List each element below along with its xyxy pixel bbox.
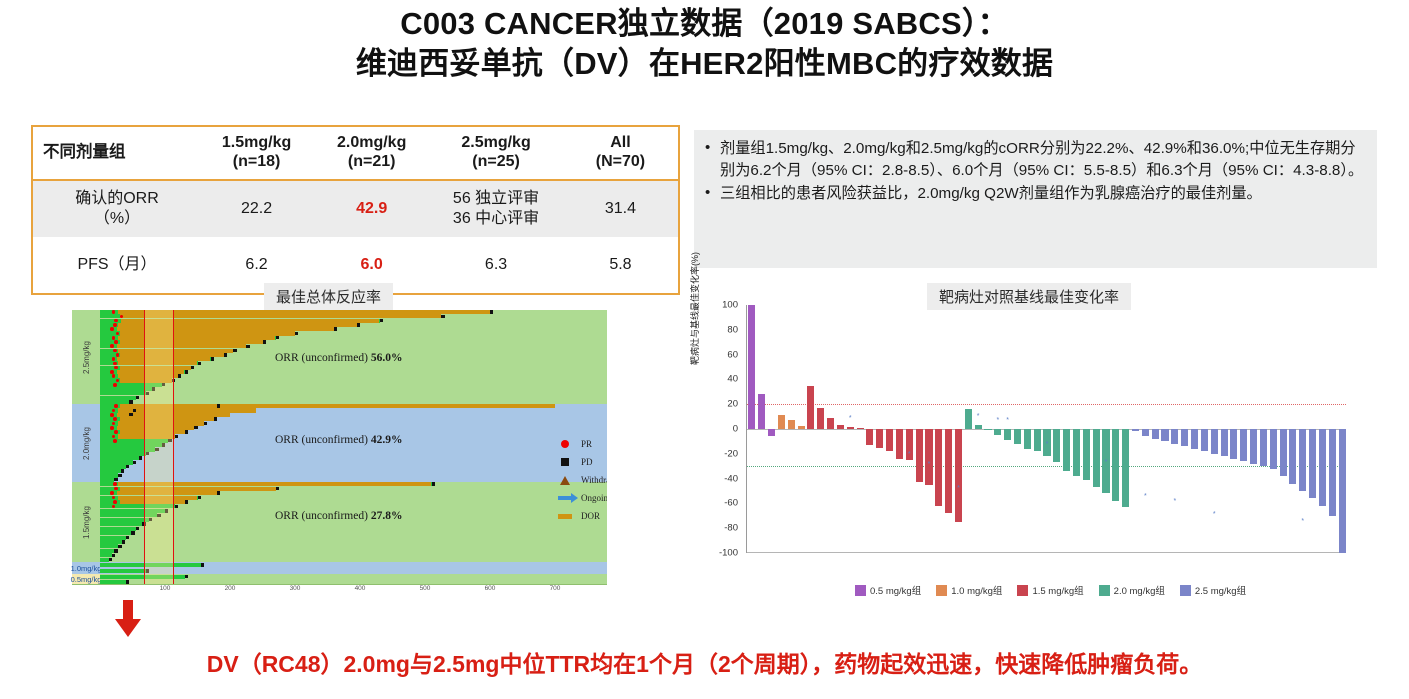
x-tick-label: 600 <box>485 585 496 592</box>
legend-item: 0.5 mg/kg组 <box>855 583 921 597</box>
waterfall-y-ticks: 100806040200-20-40-60-80-100 <box>706 305 742 553</box>
waterfall-bar <box>1319 429 1326 506</box>
orr-label-15-value: 27.8% <box>371 510 403 522</box>
dose-band-20: 2.0mg/kg <box>72 404 100 482</box>
y-tick-label: 60 <box>727 349 738 360</box>
dose-table-body: 确认的ORR （%） 22.2 42.9 56 独立评审 36 中心评审 31.… <box>32 180 679 294</box>
x-tick-label: 500 <box>420 585 431 592</box>
star-annotation: * <box>908 451 911 458</box>
dose-band-10: 1.0mg/kg <box>72 562 100 574</box>
cell-orr-all: 31.4 <box>563 180 679 237</box>
legend-label-pd: PD <box>581 457 593 467</box>
list-item: 剂量组1.5mg/kg、2.0mg/kg和2.5mg/kg的cORR分别为22.… <box>702 138 1367 181</box>
swimmer-row <box>100 569 607 573</box>
waterfall-bar <box>1161 429 1168 441</box>
legend-swatch <box>1017 585 1028 596</box>
conclusion-text: DV（RC48）2.0mg与2.5mg中位TTR均在1个月（2个周期），药物起效… <box>0 645 1409 679</box>
waterfall-bar <box>1073 429 1080 476</box>
y-tick-label: 0 <box>733 424 738 435</box>
slide-root: C003 CANCER独立数据（2019 SABCS）： 维迪西妥单抗（DV）在… <box>0 0 1409 699</box>
waterfall-bar <box>975 425 982 429</box>
waterfall-bar <box>1201 429 1208 451</box>
th-dose-20-main: 2.0mg/kg <box>337 134 406 151</box>
star-annotation: * <box>849 415 852 422</box>
waterfall-bar <box>994 429 1001 435</box>
waterfall-bar <box>866 429 873 445</box>
waterfall-bar <box>1063 429 1070 471</box>
th-dose-15-main: 1.5mg/kg <box>222 134 291 151</box>
th-dose-15: 1.5mg/kg (n=18) <box>199 126 314 180</box>
star-annotation: * <box>977 413 980 420</box>
waterfall-bar <box>1280 429 1287 476</box>
legend-item: 1.0 mg/kg组 <box>936 583 1002 597</box>
dose-table-wrapper: 不同剂量组 1.5mg/kg (n=18) 2.0mg/kg (n=21) 2.… <box>31 125 680 295</box>
legend-item-ongoing: Ongoing <box>555 489 607 507</box>
waterfall-legend: 0.5 mg/kg组1.0 mg/kg组1.5 mg/kg组2.0 mg/kg组… <box>855 583 1246 597</box>
legend-label: 2.0 mg/kg组 <box>1114 583 1165 597</box>
y-tick-label: -80 <box>724 523 738 534</box>
legend-label: 1.0 mg/kg组 <box>951 583 1002 597</box>
waterfall-bar <box>1299 429 1306 491</box>
dose-band-25: 2.5mg/kg <box>72 310 100 404</box>
th-dose-25-main: 2.5mg/kg <box>461 134 530 151</box>
waterfall-bar <box>1152 429 1159 439</box>
th-group: 不同剂量组 <box>32 126 199 180</box>
swimmer-plot-area: ORR (unconfirmed) 56.0% ORR (unconfirmed… <box>100 310 607 585</box>
dose-band-20-label: 2.0mg/kg <box>82 427 91 460</box>
star-annotation: * <box>928 461 931 468</box>
waterfall-bar <box>1004 429 1011 440</box>
th-group-label: 不同剂量组 <box>43 143 126 161</box>
star-annotation: * <box>1301 518 1304 525</box>
blue-arrow-icon <box>555 496 575 500</box>
page-title: C003 CANCER独立数据（2019 SABCS）： 维迪西妥单抗（DV）在… <box>0 4 1409 83</box>
th-dose-25: 2.5mg/kg (n=25) <box>429 126 563 180</box>
waterfall-bar <box>788 420 795 429</box>
legend-swatch <box>855 585 866 596</box>
waterfall-bar <box>1014 429 1021 444</box>
orr-label-20-text: ORR (unconfirmed) <box>275 434 368 446</box>
cell-orr-25-l2: 36 中心评审 <box>431 209 561 229</box>
waterfall-bar <box>925 429 932 485</box>
waterfall-bar <box>984 429 991 430</box>
waterfall-bar <box>916 429 923 482</box>
y-tick-label: -100 <box>719 548 738 559</box>
legend-item: 1.5 mg/kg组 <box>1017 583 1083 597</box>
waterfall-bar <box>1250 429 1257 464</box>
red-circle-icon <box>555 440 575 448</box>
x-tick-label: 100 <box>160 585 171 592</box>
th-dose-20-sub: (n=21) <box>316 153 427 172</box>
th-all-main: All <box>610 134 630 151</box>
reference-line <box>747 466 1346 467</box>
th-dose-20: 2.0mg/kg (n=21) <box>314 126 429 180</box>
black-square-icon <box>555 458 575 466</box>
th-dose-15-sub: (n=18) <box>201 153 312 172</box>
table-header-row: 不同剂量组 1.5mg/kg (n=18) 2.0mg/kg (n=21) 2.… <box>32 126 679 180</box>
legend-item: 2.5 mg/kg组 <box>1180 583 1246 597</box>
waterfall-bar <box>1034 429 1041 451</box>
waterfall-bar <box>1132 429 1139 431</box>
x-tick-label: 200 <box>225 585 236 592</box>
waterfall-bar <box>876 429 883 448</box>
waterfall-bar <box>1339 429 1346 553</box>
waterfall-bar <box>857 428 864 429</box>
legend-swatch <box>936 585 947 596</box>
legend-label-ongoing: Ongoing <box>581 493 607 503</box>
row-label-orr: 确认的ORR （%） <box>32 180 199 237</box>
legend-item: 2.0 mg/kg组 <box>1099 583 1165 597</box>
waterfall-bar <box>935 429 942 506</box>
cell-pfs-25: 6.3 <box>429 237 563 294</box>
dose-band-15: 1.5mg/kg <box>72 482 100 562</box>
dose-table-head: 不同剂量组 1.5mg/kg (n=18) 2.0mg/kg (n=21) 2.… <box>32 126 679 180</box>
star-annotation: * <box>1213 511 1216 518</box>
row-label-orr-l2: （%） <box>37 209 197 229</box>
waterfall-bar <box>1309 429 1316 498</box>
reference-line <box>747 404 1346 405</box>
waterfall-plot: 靶病灶与基线最佳变化率(%) 100806040200-20-40-60-80-… <box>690 305 1350 590</box>
dose-band-25-label: 2.5mg/kg <box>82 341 91 374</box>
waterfall-bar <box>1024 429 1031 449</box>
title-line-1: C003 CANCER独立数据（2019 SABCS）： <box>400 6 1009 41</box>
waterfall-bar <box>1122 429 1129 507</box>
orr-label-20: ORR (unconfirmed) 42.9% <box>275 434 402 446</box>
legend-item-withdraw: Withdraw <box>555 471 607 489</box>
th-all-sub: (N=70) <box>565 153 676 172</box>
brown-triangle-icon <box>555 476 575 485</box>
cell-orr-20: 42.9 <box>314 180 429 237</box>
summary-list: 剂量组1.5mg/kg、2.0mg/kg和2.5mg/kg的cORR分别为22.… <box>702 138 1367 205</box>
swimmer-row <box>100 575 607 579</box>
y-tick-label: 100 <box>722 300 738 311</box>
legend-swatch <box>1099 585 1110 596</box>
waterfall-plot-area: ************* <box>746 305 1346 553</box>
x-tick-label: 300 <box>290 585 301 592</box>
orr-label-25-value: 56.0% <box>371 352 403 364</box>
y-tick-label: -40 <box>724 473 738 484</box>
waterfall-bar <box>1240 429 1247 461</box>
waterfall-bar <box>1260 429 1267 466</box>
legend-label: 1.5 mg/kg组 <box>1032 583 1083 597</box>
waterfall-bar <box>1329 429 1336 516</box>
legend-label-withdraw: Withdraw <box>581 475 607 485</box>
caption-swimmer: 最佳总体反应率 <box>264 283 393 310</box>
legend-item-dor: DOR <box>555 507 607 525</box>
dose-band-10-label: 1.0mg/kg <box>71 564 102 573</box>
waterfall-bar <box>1211 429 1218 454</box>
waterfall-y-axis-label: 靶病灶与基线最佳变化率(%) <box>688 252 701 365</box>
legend-label-dor: DOR <box>581 511 600 521</box>
waterfall-bar <box>837 425 844 429</box>
swimmer-row <box>100 563 607 567</box>
table-row: 确认的ORR （%） 22.2 42.9 56 独立评审 36 中心评审 31.… <box>32 180 679 237</box>
row-label-pfs: PFS（月） <box>32 237 199 294</box>
swimmer-plot: 2.5mg/kg 2.0mg/kg 1.5mg/kg 1.0mg/kg 0.5m… <box>72 310 607 585</box>
waterfall-bar <box>886 429 893 451</box>
x-tick-label: 700 <box>550 585 561 592</box>
waterfall-bar <box>748 305 755 429</box>
cell-orr-25-l1: 56 独立评审 <box>431 189 561 209</box>
star-annotation: * <box>957 485 960 492</box>
cell-orr-15: 22.2 <box>199 180 314 237</box>
legend-item-pr: PR <box>555 435 607 453</box>
orange-bar-icon <box>555 514 575 519</box>
th-dose-25-sub: (n=25) <box>431 153 561 172</box>
waterfall-bar <box>1093 429 1100 487</box>
waterfall-bar <box>1083 429 1090 480</box>
y-tick-label: 40 <box>727 374 738 385</box>
swimmer-row <box>100 558 607 562</box>
waterfall-bar <box>945 429 952 513</box>
list-item: 三组相比的患者风险获益比，2.0mg/kg Q2W剂量组作为乳腺癌治疗的最佳剂量… <box>702 183 1367 205</box>
x-tick-label: 400 <box>355 585 366 592</box>
legend-label-pr: PR <box>581 439 592 449</box>
swimmer-legend: PR PD Withdraw Ongoing DOR <box>555 435 607 525</box>
star-annotation: * <box>1173 498 1176 505</box>
cell-orr-25: 56 独立评审 36 中心评审 <box>429 180 563 237</box>
swimmer-dose-axis: 2.5mg/kg 2.0mg/kg 1.5mg/kg 1.0mg/kg 0.5m… <box>72 310 100 585</box>
waterfall-bar <box>1181 429 1188 446</box>
waterfall-base-line <box>747 552 1346 553</box>
swimmer-x-axis: 100200300400500600700 <box>100 585 607 603</box>
waterfall-bar <box>758 394 765 429</box>
star-annotation: * <box>996 417 999 424</box>
dose-table: 不同剂量组 1.5mg/kg (n=18) 2.0mg/kg (n=21) 2.… <box>31 125 680 295</box>
star-annotation: * <box>1144 493 1147 500</box>
waterfall-bar <box>1230 429 1237 459</box>
legend-label: 0.5 mg/kg组 <box>870 583 921 597</box>
orr-label-15: ORR (unconfirmed) 27.8% <box>275 510 402 522</box>
y-tick-label: 20 <box>727 399 738 410</box>
waterfall-bar <box>1191 429 1198 449</box>
waterfall-bar <box>1171 429 1178 444</box>
y-tick-label: -20 <box>724 448 738 459</box>
cell-pfs-all: 5.8 <box>563 237 679 294</box>
waterfall-bar <box>817 408 824 429</box>
th-all: All (N=70) <box>563 126 679 180</box>
title-line-2: 维迪西妥单抗（DV）在HER2阳性MBC的疗效数据 <box>0 44 1409 84</box>
legend-swatch <box>1180 585 1191 596</box>
dose-band-05-label: 0.5mg/kg <box>71 575 102 584</box>
orr-label-15-text: ORR (unconfirmed) <box>275 510 368 522</box>
waterfall-bar <box>1053 429 1060 462</box>
down-arrow-icon <box>115 600 141 638</box>
waterfall-bar <box>847 427 854 429</box>
orr-label-25: ORR (unconfirmed) 56.0% <box>275 352 402 364</box>
row-label-orr-l1: 确认的ORR <box>37 189 197 209</box>
orr-label-25-text: ORR (unconfirmed) <box>275 352 368 364</box>
early-response-highlight-box <box>144 310 174 585</box>
waterfall-bar <box>955 429 962 522</box>
star-annotation: * <box>1046 441 1049 448</box>
orr-label-20-value: 42.9% <box>371 434 403 446</box>
waterfall-bar <box>896 429 903 459</box>
waterfall-bar <box>827 418 834 429</box>
waterfall-bar <box>807 386 814 429</box>
summary-panel: 剂量组1.5mg/kg、2.0mg/kg和2.5mg/kg的cORR分别为22.… <box>694 130 1377 268</box>
dose-band-15-label: 1.5mg/kg <box>82 506 91 539</box>
waterfall-bar <box>1112 429 1119 501</box>
y-tick-label: -60 <box>724 498 738 509</box>
waterfall-bar <box>778 415 785 429</box>
waterfall-bar <box>1270 429 1277 469</box>
star-annotation: * <box>1006 417 1009 424</box>
waterfall-bar <box>1221 429 1228 456</box>
y-tick-label: 80 <box>727 324 738 335</box>
waterfall-bar <box>798 426 805 429</box>
waterfall-bar <box>1289 429 1296 484</box>
legend-item-pd: PD <box>555 453 607 471</box>
waterfall-bar <box>965 409 972 429</box>
waterfall-bar <box>768 429 775 436</box>
star-annotation: * <box>1105 459 1108 466</box>
waterfall-bar <box>1142 429 1149 436</box>
legend-label: 2.5 mg/kg组 <box>1195 583 1246 597</box>
